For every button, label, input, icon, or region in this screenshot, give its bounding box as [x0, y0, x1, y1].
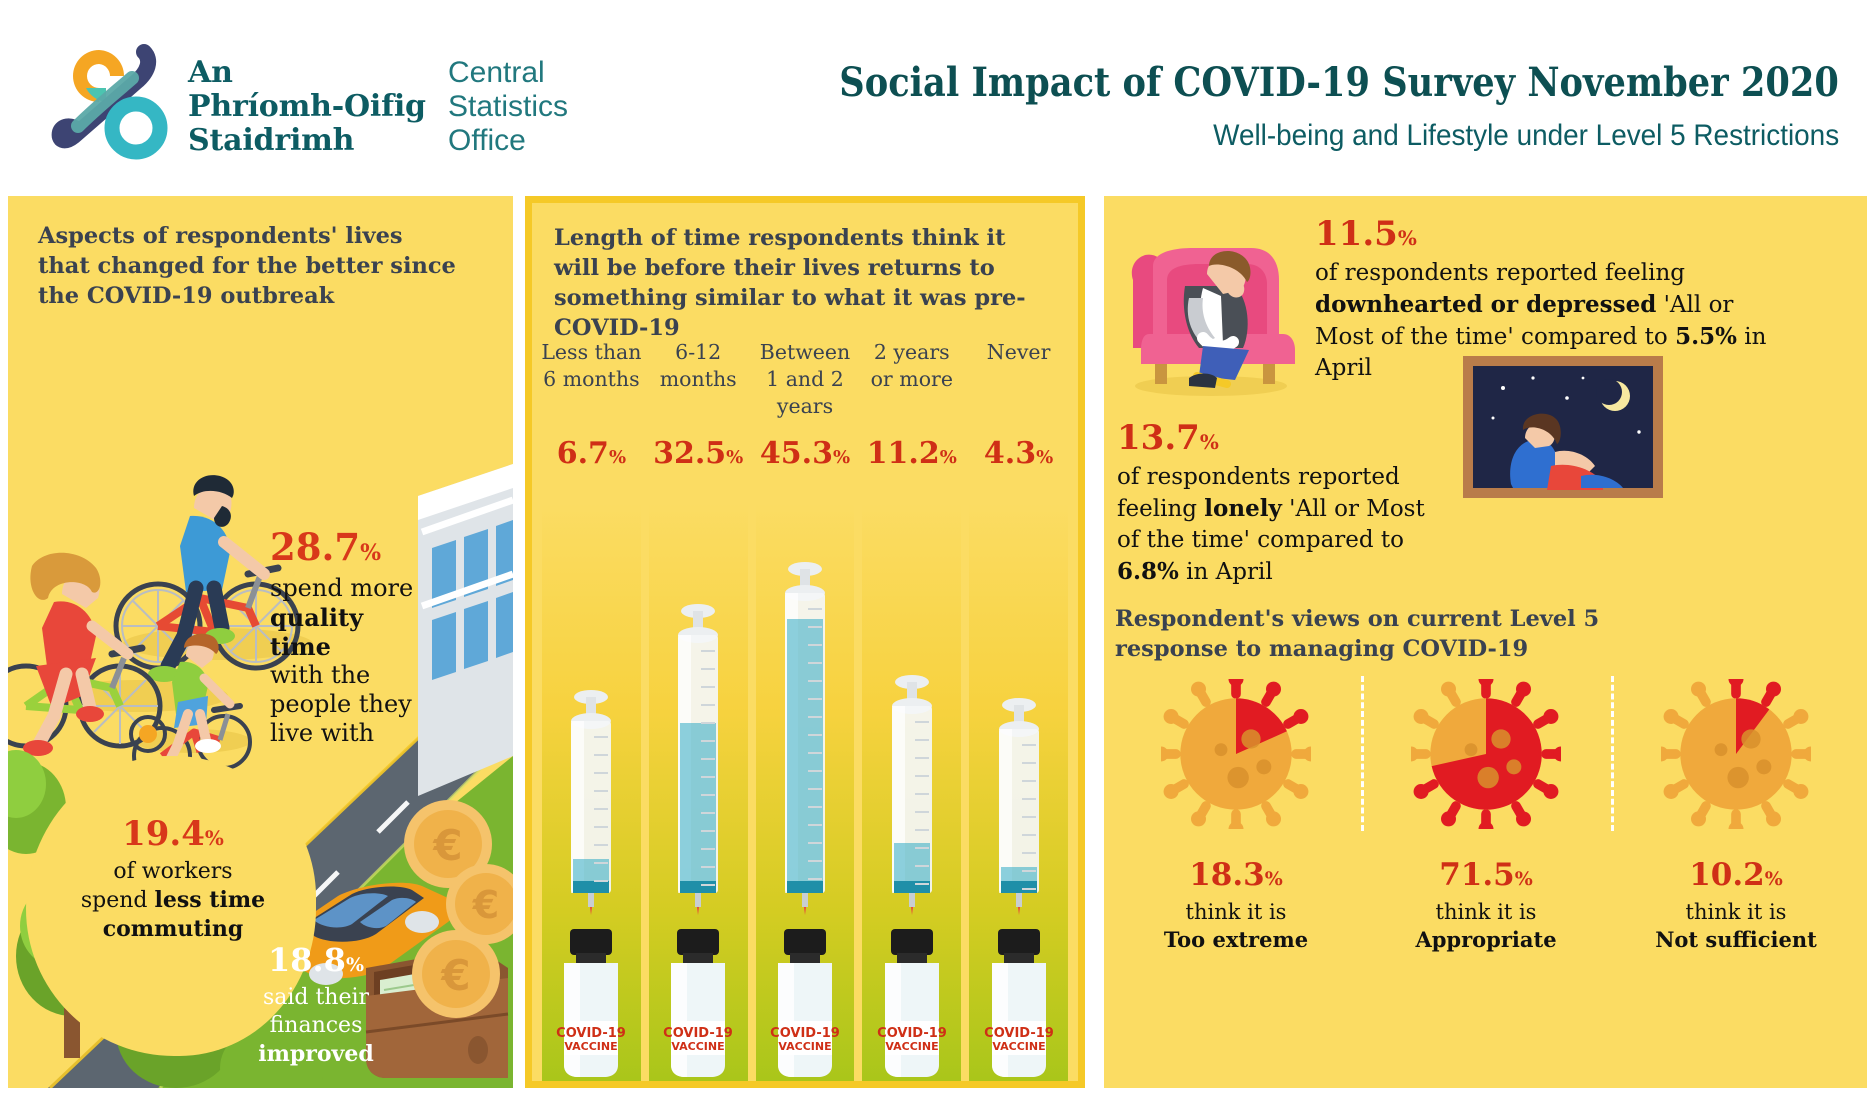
chart-value-label-4: 4.3% [965, 436, 1072, 476]
stat-lonely: 13.7% of respondents reported feeling lo… [1117, 418, 1447, 588]
stat-quality-time-bold: quality time [270, 603, 420, 661]
logo-ga-line2: Phríomh-Oifig [188, 90, 426, 124]
stat-quality-time: 28.7% spend more quality time with the p… [270, 526, 420, 748]
stat-lonely-value: 13.7% [1117, 418, 1219, 458]
logo-ga-line3: Staidrimh [188, 124, 426, 158]
logo-text-irish: An Phríomh-Oifig Staidrimh [188, 56, 426, 158]
panel-return-to-normal: Length of time respondents think it will… [525, 196, 1085, 1088]
virus-holder-0 [1111, 666, 1361, 842]
chart-category-label-0: Less than 6 months x [538, 339, 645, 420]
page-header: An Phríomh-Oifig Staidrimh Central Stati… [0, 0, 1875, 196]
virus-holder-1 [1361, 666, 1611, 842]
stat-quality-time-line1: spend more [270, 574, 420, 603]
chart-value-label-0: 6.7% [538, 436, 645, 476]
stat-downhearted-bold2: 5.5% [1675, 323, 1737, 350]
syringe-icon-1 [671, 601, 725, 915]
svg-text:VACCINE: VACCINE [672, 1040, 725, 1053]
left-panel-heading: Aspects of respondents' lives that chang… [38, 221, 458, 311]
stat-downhearted-bold1: downhearted or depressed [1315, 291, 1656, 318]
virus-icon-2 [1661, 679, 1811, 829]
stat-lonely-bold2: 6.8% [1117, 558, 1179, 585]
svg-text:COVID-19: COVID-19 [663, 1026, 733, 1041]
level5-view-1: 71.5%think it isAppropriate [1361, 666, 1611, 1076]
stat-finances: 18.8% said their finances improved [248, 941, 384, 1068]
vaccine-bar-2: COVID-19VACCINE [752, 503, 859, 1087]
right-panel-heading-views: Respondent's views on current Level 5 re… [1115, 604, 1635, 664]
stat-quality-time-value: 28.7% [270, 526, 420, 574]
svg-text:COVID-19: COVID-19 [770, 1026, 840, 1041]
panel-lifestyle-changes: € € € Aspects of respondents' [8, 196, 513, 1088]
chart-col-0: Less than 6 months x 6.7% [538, 339, 645, 476]
logo-text-english: Central Statistics Office [448, 56, 568, 158]
level5-view-value-2: 10.2% [1611, 856, 1861, 898]
stat-finances-line1: said their finances [248, 984, 384, 1040]
stat-finances-bold: improved [248, 1040, 384, 1068]
syringe-icon-0 [564, 687, 618, 915]
stat-downhearted-value: 11.5% [1315, 214, 1417, 254]
syringe-icon-4 [992, 695, 1046, 915]
logo-en-line2: Statistics [448, 90, 568, 124]
chart-value-label-3: 11.2% [858, 436, 965, 476]
chart-category-label-2: Between 1 and 2 years [752, 339, 859, 420]
level5-view-prefix-1: think it is [1361, 898, 1611, 926]
level5-view-category-0: Too extreme [1111, 926, 1361, 954]
level5-view-value-1: 71.5% [1361, 856, 1611, 898]
logo-en-line3: Office [448, 124, 568, 158]
vaccine-pictogram-chart: COVID-19VACCINECOVID-19VACCINECOVID-19VA… [538, 503, 1072, 1087]
level5-view-0: 18.3%think it isToo extreme [1111, 666, 1361, 1076]
vaccine-bar-1: COVID-19VACCINE [645, 503, 752, 1087]
page-subtitle: Well-being and Lifestyle under Level 5 R… [1213, 118, 1839, 154]
chart-col-1: 6-12 months x 32.5% [645, 339, 752, 476]
stat-lonely-text3: in April [1179, 559, 1273, 585]
vaccine-vial-icon-3: COVID-19VACCINE [871, 929, 953, 1079]
chart-category-label-3: 2 years or more x [858, 339, 965, 420]
level5-view-prefix-0: think it is [1111, 898, 1361, 926]
svg-text:€: € [440, 951, 470, 1000]
stat-commuting: 19.4% of workers spend less time commuti… [48, 814, 298, 944]
level5-views-chart: 18.3%think it isToo extreme71.5%think it… [1111, 666, 1861, 1076]
virus-holder-2 [1611, 666, 1861, 842]
vaccine-bar-0: COVID-19VACCINE [538, 503, 645, 1087]
logo-ga-line1: An [188, 56, 426, 90]
virus-icon-0 [1161, 679, 1311, 829]
logo-en-line1: Central [448, 56, 568, 90]
svg-text:COVID-19: COVID-19 [557, 1026, 627, 1041]
panel-wellbeing-views: 11.5% of respondents reported feeling do… [1097, 196, 1867, 1088]
level5-view-prefix-2: think it is [1611, 898, 1861, 926]
chart-col-2: Between 1 and 2 years 45.3% [752, 339, 859, 476]
lonely-woman-window-illustration [1463, 356, 1663, 498]
svg-text:VACCINE: VACCINE [565, 1040, 618, 1053]
vaccine-vial-icon-4: COVID-19VACCINE [978, 929, 1060, 1079]
level5-view-category-1: Appropriate [1361, 926, 1611, 954]
chart-col-3: 2 years or more x 11.2% [858, 339, 965, 476]
stat-commuting-line2: spend less time commuting [48, 886, 298, 944]
vaccine-vial-icon-2: COVID-19VACCINE [764, 929, 846, 1079]
svg-text:COVID-19: COVID-19 [877, 1026, 947, 1041]
stat-lonely-bold1: lonely [1204, 495, 1282, 522]
virus-icon-1 [1411, 679, 1561, 829]
chart-value-label-1: 32.5% [645, 436, 752, 476]
svg-text:€: € [472, 883, 499, 927]
vaccine-chart-labels: Less than 6 months x 6.7% 6-12 months x … [538, 339, 1072, 476]
chart-category-label-4: Never x x [965, 339, 1072, 420]
middle-panel-heading: Length of time respondents think it will… [554, 223, 1054, 343]
chart-col-4: Never x x 4.3% [965, 339, 1072, 476]
svg-text:COVID-19: COVID-19 [984, 1026, 1054, 1041]
cso-logo [44, 38, 174, 163]
svg-text:VACCINE: VACCINE [992, 1040, 1045, 1053]
stat-finances-value: 18.8% [248, 941, 384, 984]
stat-downhearted-text1: of respondents reported feeling [1315, 260, 1685, 286]
level5-view-2: 10.2%think it isNot sufficient [1611, 666, 1861, 1076]
building-illustration [418, 464, 513, 796]
stat-commuting-value: 19.4% [48, 814, 298, 858]
vaccine-bar-3: COVID-19VACCINE [858, 503, 965, 1087]
chart-value-label-2: 45.3% [752, 436, 859, 476]
level5-view-category-2: Not sufficient [1611, 926, 1861, 954]
syringe-icon-3 [885, 672, 939, 915]
svg-text:VACCINE: VACCINE [885, 1040, 938, 1053]
vaccine-vial-icon-1: COVID-19VACCINE [657, 929, 739, 1079]
panel-divider [1097, 196, 1104, 1088]
svg-text:€: € [432, 821, 462, 870]
level5-view-value-0: 18.3% [1111, 856, 1361, 898]
vaccine-bar-4: COVID-19VACCINE [965, 503, 1072, 1087]
stat-commuting-line1: of workers [48, 858, 298, 886]
syringe-icon-2 [778, 559, 832, 915]
stat-quality-time-line2: with the people they live with [270, 661, 420, 748]
svg-text:VACCINE: VACCINE [778, 1040, 831, 1053]
page-title: Social Impact of COVID-19 Survey Novembe… [839, 60, 1839, 106]
depressed-person-illustration [1111, 218, 1311, 398]
vaccine-vial-icon-0: COVID-19VACCINE [550, 929, 632, 1079]
chart-category-label-1: 6-12 months x [645, 339, 752, 420]
